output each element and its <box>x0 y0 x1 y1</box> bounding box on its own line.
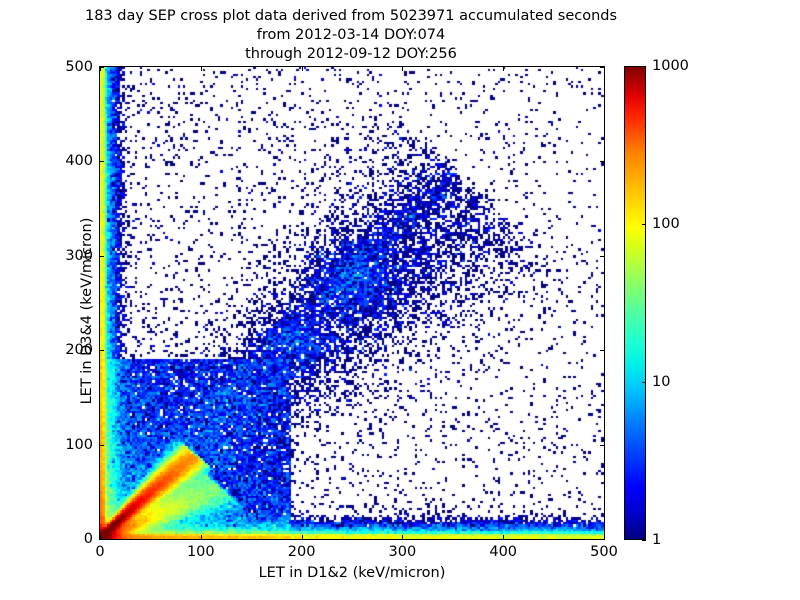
colorbar-tick-label: 10 <box>652 374 670 390</box>
colorbar-tick-mark <box>642 66 646 67</box>
colorbar <box>624 66 646 540</box>
y-tick-mark-right <box>600 256 604 257</box>
x-tick-label: 300 <box>389 544 417 560</box>
x-tick-label: 400 <box>489 544 517 560</box>
y-tick-mark-right <box>600 67 604 68</box>
x-axis-label: LET in D1&2 (keV/micron) <box>99 565 605 581</box>
plot-area <box>99 66 605 540</box>
y-tick-label: 500 <box>41 59 93 75</box>
y-tick-mark-right <box>600 350 604 351</box>
y-tick-mark <box>100 350 104 351</box>
colorbar-tick-mark <box>642 382 646 383</box>
title-line-3: through 2012-09-12 DOY:256 <box>0 45 702 64</box>
y-tick-mark-right <box>600 445 604 446</box>
title-line-1: 183 day SEP cross plot data derived from… <box>0 7 702 26</box>
y-tick-mark-right <box>600 161 604 162</box>
colorbar-tick-mark <box>642 224 646 225</box>
x-tick-mark <box>402 535 403 539</box>
x-tick-mark-top <box>402 67 403 71</box>
colorbar-tick-label: 1 <box>652 532 661 548</box>
colorbar-tick-mark <box>642 540 646 541</box>
x-tick-mark-top <box>503 67 504 71</box>
title-line-2: from 2012-03-14 DOY:074 <box>0 26 702 45</box>
y-tick-mark <box>100 67 104 68</box>
y-axis-label: LET in D3&4 (keV/micron) <box>79 74 95 548</box>
colorbar-gradient <box>624 66 646 540</box>
chart-title: 183 day SEP cross plot data derived from… <box>0 7 702 64</box>
x-tick-mark-top <box>302 67 303 71</box>
colorbar-tick-label: 1000 <box>652 58 689 74</box>
x-tick-mark <box>503 535 504 539</box>
colorbar-tick-label: 100 <box>652 216 680 232</box>
x-tick-mark-top <box>604 67 605 71</box>
x-tick-label: 0 <box>95 544 104 560</box>
x-tick-label: 200 <box>288 544 316 560</box>
x-tick-mark <box>604 535 605 539</box>
x-tick-mark <box>201 535 202 539</box>
y-tick-mark <box>100 445 104 446</box>
x-tick-mark-top <box>201 67 202 71</box>
x-tick-label: 100 <box>187 544 215 560</box>
x-tick-mark <box>302 535 303 539</box>
scatter-heatmap-canvas <box>100 67 604 539</box>
x-tick-label: 500 <box>590 544 618 560</box>
y-tick-mark <box>100 539 104 540</box>
y-tick-mark <box>100 161 104 162</box>
y-tick-mark <box>100 256 104 257</box>
y-tick-mark-right <box>600 539 604 540</box>
